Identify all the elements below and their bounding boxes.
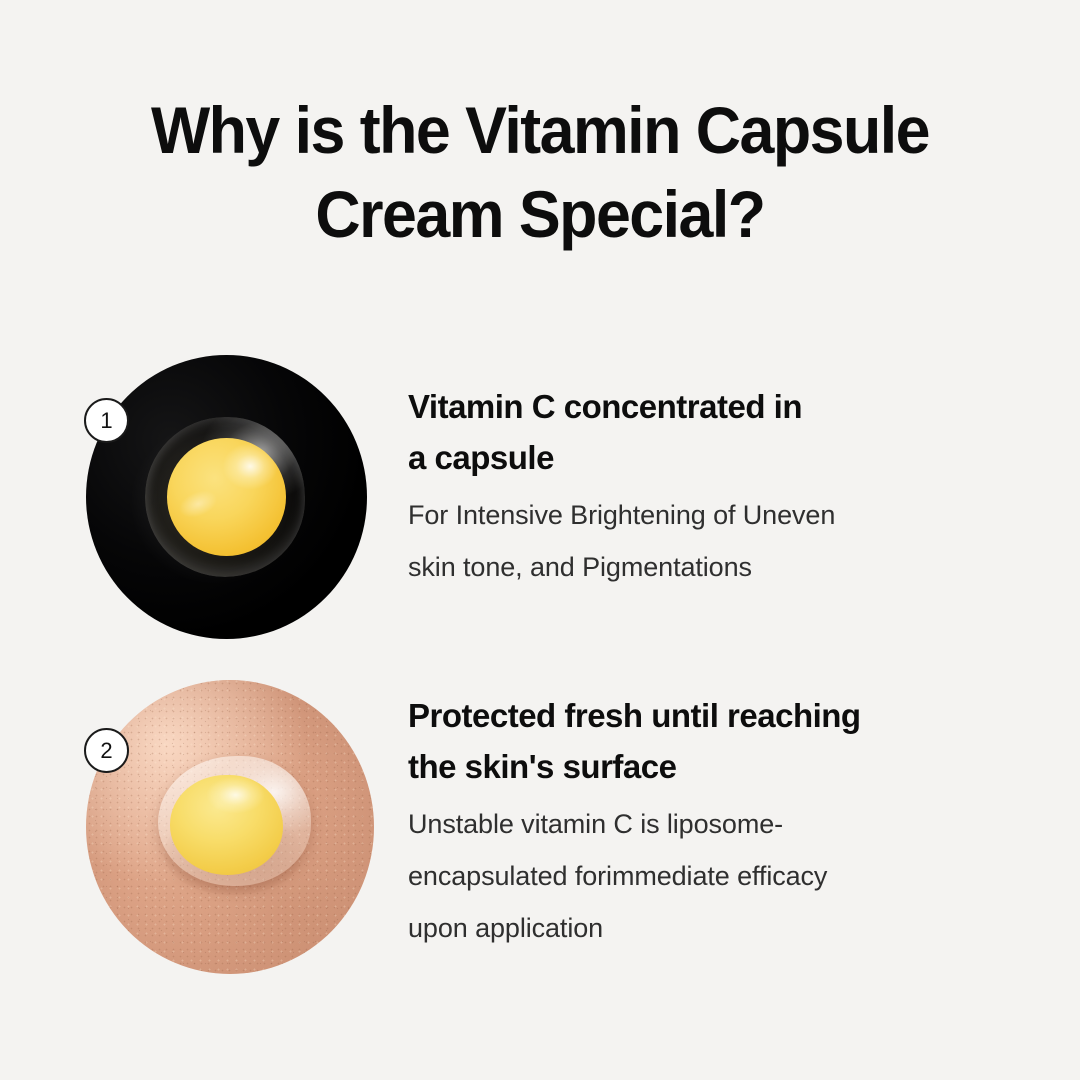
feature-1-body: For Intensive Brightening of Uneven skin… [408, 489, 1018, 593]
feature-1-body-line-2: skin tone, and Pigmentations [408, 552, 752, 582]
page-title: Why is the Vitamin Capsule Cream Special… [0, 88, 1080, 256]
vitamin-capsule-infographic: { "page": { "background_color": "#f4f3f1… [0, 0, 1080, 1080]
capsule-on-black-dish-photo [86, 355, 367, 639]
feature-1-text-column: Vitamin C concentrated in a capsule For … [408, 381, 1018, 593]
capsule-on-skin-photo [86, 680, 374, 974]
feature-2-heading-line-1: Protected fresh until reaching [408, 697, 861, 734]
skin-capsule-shell-shape [158, 756, 311, 885]
feature-1-heading-line-1: Vitamin C concentrated in [408, 388, 802, 425]
skin-texture-background [86, 680, 374, 974]
feature-1-body-line-1: For Intensive Brightening of Uneven [408, 500, 835, 530]
feature-2-body-line-2: encapsulated forimmediate efficacy [408, 861, 827, 891]
step-number-badge-1-label: 1 [100, 408, 112, 434]
step-number-badge-2: 2 [84, 728, 129, 773]
feature-2-body: Unstable vitamin C is liposome- encapsul… [408, 798, 1018, 954]
feature-2-text-column: Protected fresh until reaching the skin'… [408, 690, 1018, 954]
skin-capsule-core-shape [170, 775, 283, 876]
black-dish-background [86, 355, 367, 639]
step-number-badge-2-label: 2 [100, 738, 112, 764]
feature-2-body-line-1: Unstable vitamin C is liposome- [408, 809, 783, 839]
feature-2-heading: Protected fresh until reaching the skin'… [408, 690, 1018, 792]
page-title-line-1: Why is the Vitamin Capsule [27, 88, 1053, 172]
step-number-badge-1: 1 [84, 398, 129, 443]
feature-1-heading: Vitamin C concentrated in a capsule [408, 381, 1018, 483]
feature-2-body-line-3: upon application [408, 913, 603, 943]
page-title-line-2: Cream Special? [27, 172, 1053, 256]
capsule-core-shape [167, 438, 286, 556]
feature-2-heading-line-2: the skin's surface [408, 748, 676, 785]
feature-1-heading-line-2: a capsule [408, 439, 554, 476]
capsule-shell-shape [145, 417, 305, 576]
